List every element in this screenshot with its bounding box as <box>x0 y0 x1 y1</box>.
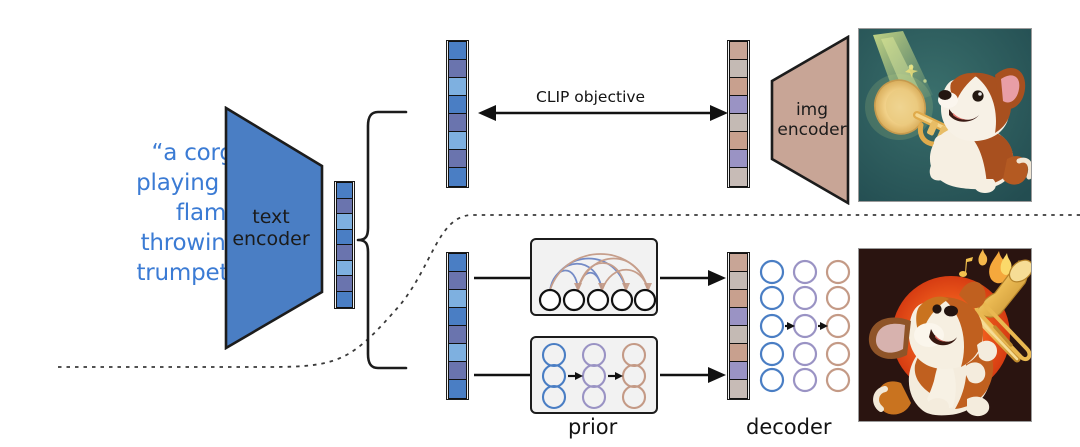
text-embedding-cell <box>448 253 467 273</box>
text-embedding-clip <box>446 40 469 188</box>
prior-caption: prior <box>568 415 617 439</box>
decoder-network-graph[interactable] <box>756 256 852 396</box>
text-embedding-cell <box>448 95 467 115</box>
image-embedding-cell <box>729 379 748 399</box>
image-embedding-clip <box>727 40 750 188</box>
top-artwork-corgi-trumpet <box>858 28 1032 202</box>
image-embedding-decoder-input <box>727 252 750 400</box>
text-encoder-block[interactable]: text encoder <box>224 106 324 350</box>
image-embedding-cell <box>729 271 748 291</box>
text-encoder-label: text encoder <box>232 206 309 251</box>
text-embedding-cell <box>448 59 467 79</box>
prior-autoregressive-box[interactable] <box>530 238 658 316</box>
img-encoder-label-line1: img <box>777 100 846 120</box>
bottom-artwork-corgi-trombone <box>858 248 1032 422</box>
arrow-ar-prior-to-embedding <box>660 267 726 289</box>
image-embedding-cell <box>729 307 748 327</box>
prior-diffusion-box[interactable] <box>530 336 658 414</box>
prompt-line-1: playing a <box>88 168 240 198</box>
text-embedding-cell <box>448 271 467 291</box>
attention-arcs-graph <box>532 240 656 314</box>
prompt-text: “a corgi playing a flame throwing trumpe… <box>88 138 240 288</box>
image-embedding-cell <box>729 325 748 345</box>
arrow-diffusion-prior-to-embedding <box>660 364 726 386</box>
text-embedding-cell <box>448 113 467 133</box>
prompt-line-3: throwing <box>88 228 240 258</box>
text-embedding-cell <box>448 307 467 327</box>
text-embedding-cell <box>448 289 467 309</box>
image-embedding-cell <box>729 41 748 61</box>
img-encoder-label-line2: encoder <box>777 120 846 140</box>
image-embedding-cell <box>729 167 748 187</box>
img-encoder-label: img encoder <box>777 100 846 140</box>
image-embedding-cell <box>729 131 748 151</box>
diagram-canvas: “a corgi playing a flame throwing trumpe… <box>0 0 1080 447</box>
prompt-line-0: “a corgi <box>88 138 240 168</box>
bottom-artwork-illustration <box>859 249 1032 422</box>
text-embedding-cell <box>448 325 467 345</box>
image-embedding-cell <box>729 95 748 115</box>
text-embedding-cell <box>448 149 467 169</box>
image-embedding-cell <box>729 361 748 381</box>
prompt-line-2: flame <box>88 198 240 228</box>
text-embedding-cell <box>448 343 467 363</box>
embedding-split-bracket <box>356 100 410 380</box>
text-embedding-compact <box>334 181 355 309</box>
arrow-to-diffusion-prior <box>474 364 532 386</box>
decoder-caption: decoder <box>746 415 832 439</box>
text-encoder-label-line2: encoder <box>232 228 309 250</box>
prompt-line-4: trumpet” <box>88 258 240 288</box>
text-encoder-label-line1: text <box>232 206 309 228</box>
text-embedding-cell <box>448 361 467 381</box>
image-embedding-cell <box>729 113 748 133</box>
image-embedding-cell <box>729 59 748 79</box>
text-embedding-cell <box>448 77 467 97</box>
text-embedding-cell <box>448 379 467 399</box>
clip-objective-arrow <box>478 100 728 126</box>
text-embedding-prior-input <box>446 252 469 400</box>
text-embedding-cell <box>448 167 467 187</box>
text-embedding-cell <box>448 131 467 151</box>
image-embedding-cell <box>729 253 748 273</box>
diffusion-network-graph <box>532 338 656 412</box>
text-embedding-cell <box>448 41 467 61</box>
image-embedding-cell <box>729 289 748 309</box>
top-artwork-illustration <box>859 29 1032 202</box>
img-encoder-block[interactable]: img encoder <box>766 35 850 205</box>
arrow-to-ar-prior <box>474 267 532 289</box>
image-embedding-cell <box>729 343 748 363</box>
text-embedding-cell <box>336 291 353 308</box>
image-embedding-cell <box>729 77 748 97</box>
image-embedding-cell <box>729 149 748 169</box>
